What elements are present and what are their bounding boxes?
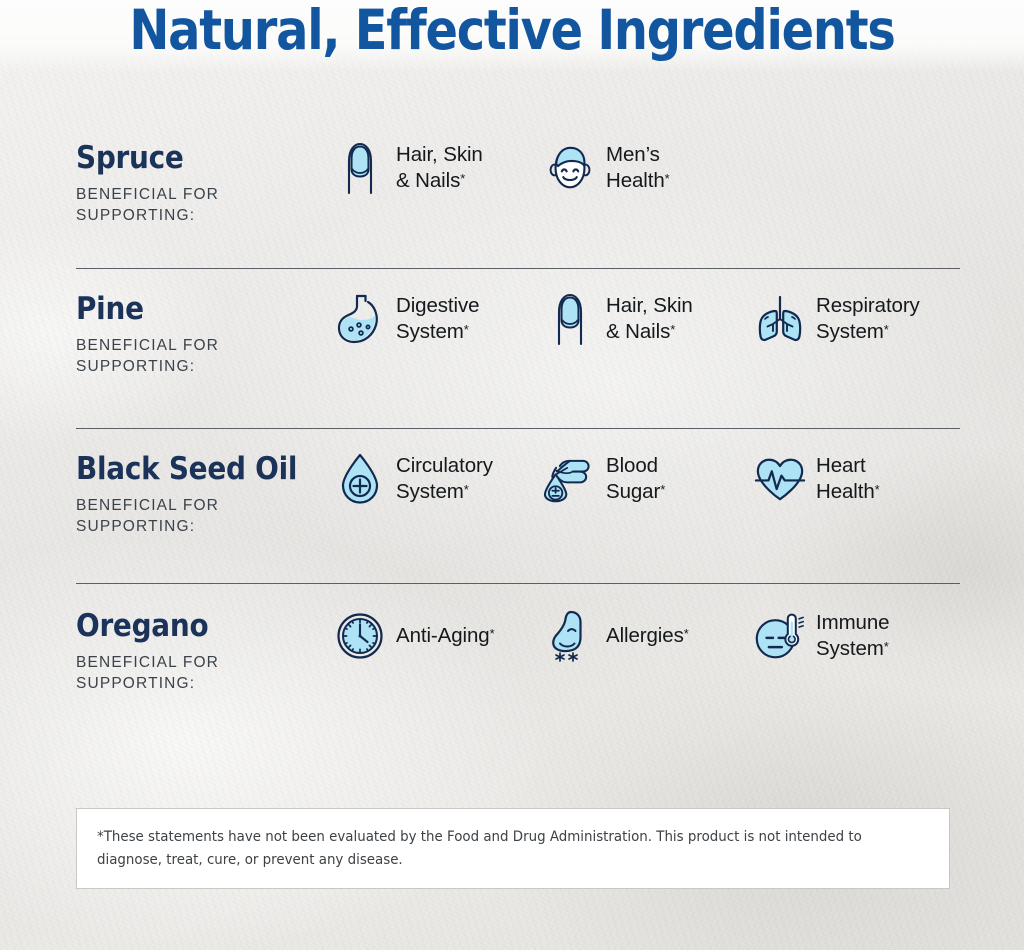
benefit-item: Hair, Skin & Nails* bbox=[544, 291, 693, 347]
ingredient-name: Spruce bbox=[76, 142, 308, 175]
ingredient-name: Black Seed Oil bbox=[76, 453, 308, 486]
ingredient-row: OreganoBeneficial for supporting: Anti-A… bbox=[76, 608, 960, 694]
ingredients-infographic: Natural, Effective Ingredients SpruceBen… bbox=[0, 0, 1024, 950]
benefit-asterisk: * bbox=[884, 639, 889, 654]
benefit-asterisk: * bbox=[665, 171, 670, 186]
ingredient-row: PineBeneficial for supporting: Digestive… bbox=[76, 291, 960, 377]
benefit-label: Heart Health* bbox=[816, 453, 880, 505]
benefit-item: Blood Sugar* bbox=[544, 451, 665, 507]
benefit-label: Men’s Health* bbox=[606, 142, 670, 194]
benefit-label: Digestive System* bbox=[396, 293, 479, 345]
benefit-asterisk: * bbox=[884, 322, 889, 337]
lungs-icon bbox=[754, 291, 806, 347]
benefit-item: Circulatory System* bbox=[334, 451, 493, 507]
ingredient-row-inner: Black Seed OilBeneficial for supporting:… bbox=[76, 451, 960, 537]
benefit-item: Heart Health* bbox=[754, 451, 880, 507]
benefit-label: Hair, Skin & Nails* bbox=[606, 293, 693, 345]
blood-drop-plus-icon bbox=[334, 451, 386, 507]
beneficial-for-supporting-label: Beneficial for supporting: bbox=[76, 652, 334, 694]
benefit-asterisk: * bbox=[670, 322, 675, 337]
ingredient-name-block: PineBeneficial for supporting: bbox=[76, 291, 334, 377]
benefit-list: Anti-Aging* Allergies* Immune System* bbox=[334, 608, 960, 678]
mens-face-icon bbox=[544, 140, 596, 196]
benefit-label: Allergies* bbox=[606, 623, 689, 649]
ingredient-row-inner: OreganoBeneficial for supporting: Anti-A… bbox=[76, 608, 960, 694]
hand-blood-drop-icon bbox=[544, 451, 596, 507]
benefit-item: Men’s Health* bbox=[544, 140, 670, 196]
sick-face-thermometer-icon bbox=[754, 608, 806, 664]
fingernail-icon bbox=[544, 291, 596, 347]
ingredient-row-inner: PineBeneficial for supporting: Digestive… bbox=[76, 291, 960, 377]
disclaimer-text: *These statements have not been evaluate… bbox=[97, 826, 871, 873]
nose-pollen-icon bbox=[544, 608, 596, 664]
ingredient-row: Black Seed OilBeneficial for supporting:… bbox=[76, 451, 960, 537]
benefit-item: Immune System* bbox=[754, 608, 889, 664]
benefit-asterisk: * bbox=[464, 482, 469, 497]
ingredient-name: Pine bbox=[76, 293, 308, 326]
stomach-icon bbox=[334, 291, 386, 347]
ingredient-row: SpruceBeneficial for supporting: Hair, S… bbox=[76, 140, 960, 226]
row-divider bbox=[76, 428, 960, 429]
benefit-label: Hair, Skin & Nails* bbox=[396, 142, 483, 194]
beneficial-for-supporting-label: Beneficial for supporting: bbox=[76, 335, 334, 377]
benefit-item: Respiratory System* bbox=[754, 291, 920, 347]
benefit-asterisk: * bbox=[875, 482, 880, 497]
benefit-label: Anti-Aging* bbox=[396, 623, 495, 649]
benefit-label: Circulatory System* bbox=[396, 453, 493, 505]
ingredient-row-inner: SpruceBeneficial for supporting: Hair, S… bbox=[76, 140, 960, 226]
benefit-label: Immune System* bbox=[816, 610, 889, 662]
benefit-item: Allergies* bbox=[544, 608, 689, 664]
heart-pulse-icon bbox=[754, 451, 806, 507]
benefit-asterisk: * bbox=[464, 322, 469, 337]
benefit-label: Respiratory System* bbox=[816, 293, 920, 345]
ingredient-name-block: OreganoBeneficial for supporting: bbox=[76, 608, 334, 694]
row-divider bbox=[76, 583, 960, 584]
benefit-asterisk: * bbox=[660, 482, 665, 497]
ingredient-name-block: Black Seed OilBeneficial for supporting: bbox=[76, 451, 334, 537]
beneficial-for-supporting-label: Beneficial for supporting: bbox=[76, 495, 334, 537]
benefit-item: Digestive System* bbox=[334, 291, 479, 347]
ingredient-name-block: SpruceBeneficial for supporting: bbox=[76, 140, 334, 226]
benefit-list: Hair, Skin & Nails* Men’s Health* bbox=[334, 140, 960, 210]
page-title: Natural, Effective Ingredients bbox=[67, 0, 958, 62]
fingernail-icon bbox=[334, 140, 386, 196]
clock-icon bbox=[334, 608, 386, 664]
benefit-item: Anti-Aging* bbox=[334, 608, 495, 664]
benefit-list: Digestive System* Hair, Skin & Nails* Re… bbox=[334, 291, 960, 361]
benefit-item: Hair, Skin & Nails* bbox=[334, 140, 483, 196]
benefit-list: Circulatory System* Blood Sugar* Heart H… bbox=[334, 451, 960, 521]
ingredient-name: Oregano bbox=[76, 610, 308, 643]
row-divider bbox=[76, 268, 960, 269]
benefit-asterisk: * bbox=[490, 626, 495, 641]
benefit-asterisk: * bbox=[684, 626, 689, 641]
benefit-label: Blood Sugar* bbox=[606, 453, 665, 505]
benefit-asterisk: * bbox=[460, 171, 465, 186]
disclaimer-box: *These statements have not been evaluate… bbox=[76, 808, 950, 889]
beneficial-for-supporting-label: Beneficial for supporting: bbox=[76, 184, 334, 226]
